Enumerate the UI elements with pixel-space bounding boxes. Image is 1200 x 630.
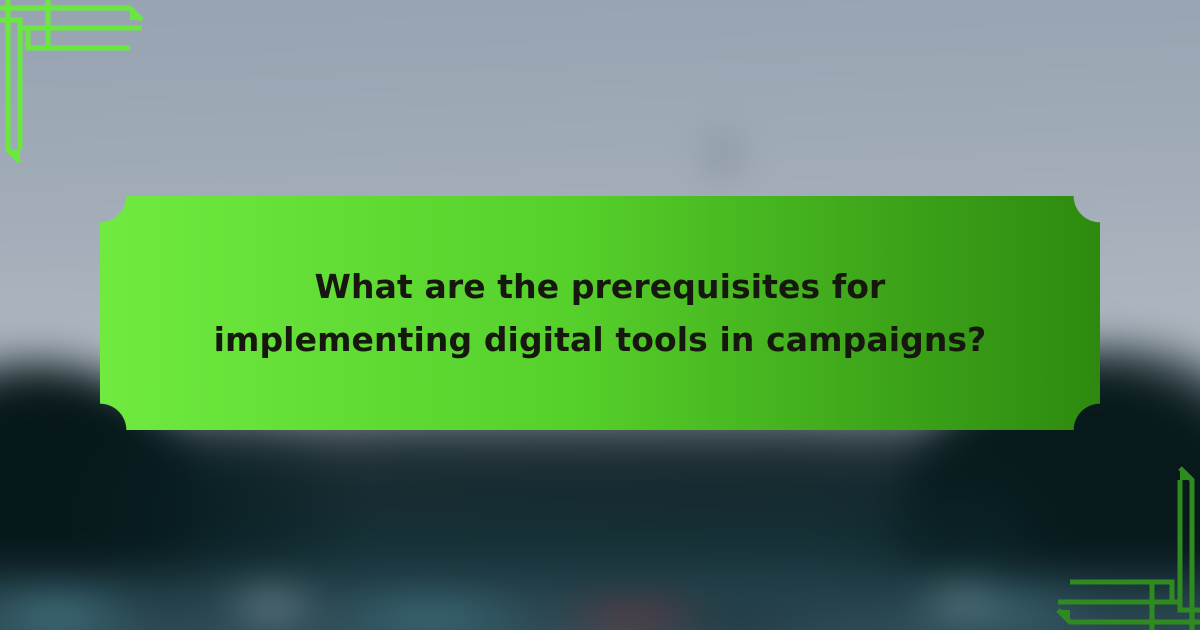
background-light-white-2: [917, 585, 1007, 611]
background-spire: [712, 124, 734, 174]
background-light-cyan-2: [310, 600, 550, 628]
question-text: What are the prerequisites for implement…: [100, 196, 1100, 430]
poster-canvas: What are the prerequisites for implement…: [0, 0, 1200, 630]
question-card: What are the prerequisites for implement…: [100, 196, 1100, 430]
background-light-red: [547, 604, 717, 630]
